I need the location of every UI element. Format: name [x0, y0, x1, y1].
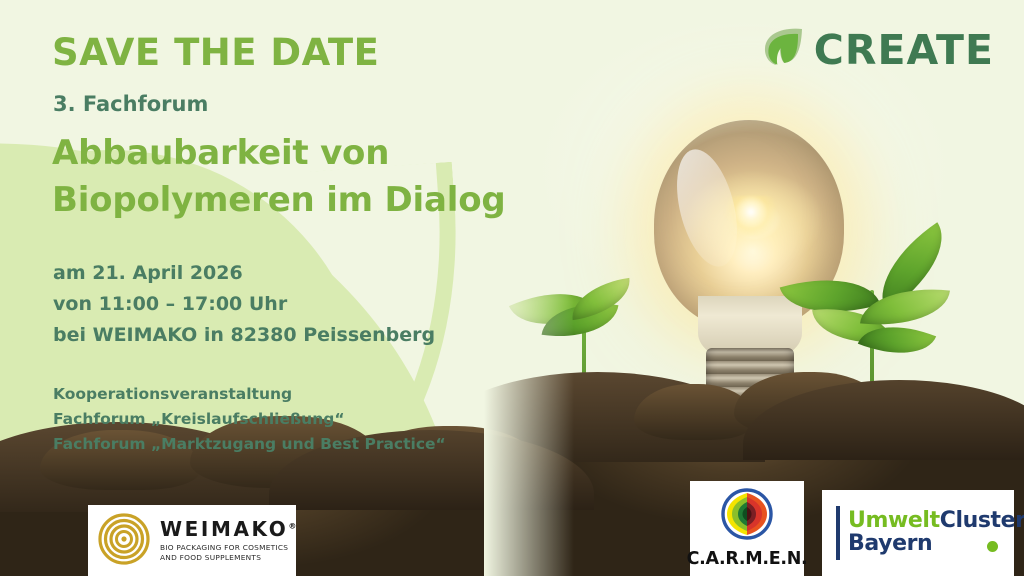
cooperation-forum-1: Fachforum „Kreislaufschließung“ [53, 407, 446, 432]
umweltcluster-line-1: UmweltCluster [848, 510, 1024, 533]
event-title: Abbaubarkeit von Biopolymeren im Dialog [52, 130, 506, 224]
bracket-icon [836, 506, 840, 560]
weimako-name-text: WEIMAKO [160, 517, 288, 541]
concentric-circles-icon [98, 513, 150, 569]
text-content: SAVE THE DATE 3. Fachforum Abbaubarkeit … [0, 0, 560, 576]
event-time: von 11:00 – 17:00 Uhr [53, 289, 435, 320]
event-title-line-1: Abbaubarkeit von [52, 130, 506, 177]
carmen-logo: C.A.R.M.E.N. [690, 481, 804, 576]
save-the-date-eyebrow: SAVE THE DATE [52, 34, 379, 71]
weimako-tagline: BIO PACKAGING FOR COSMETICS AND FOOD SUP… [160, 543, 296, 563]
carmen-flame-emblem-icon [721, 488, 773, 544]
event-title-line-2: Biopolymeren im Dialog [52, 177, 506, 224]
create-wordmark: CREATE [814, 30, 994, 71]
cluster-word: Cluster [940, 508, 1024, 533]
soil-clod-c [884, 392, 1014, 442]
event-details: am 21. April 2026 von 11:00 – 17:00 Uhr … [53, 258, 435, 350]
weimako-logo: WEIMAKO® BIO PACKAGING FOR COSMETICS AND… [88, 505, 296, 576]
cooperation-forum-2: Fachforum „Marktzugang und Best Practice… [53, 432, 446, 457]
weimako-tagline-line-1: BIO PACKAGING FOR COSMETICS [160, 543, 288, 552]
event-date: am 21. April 2026 [53, 258, 435, 289]
cooperation-heading: Kooperationsveranstaltung [53, 382, 446, 407]
poster: CREATE SAVE THE DATE 3. Fachforum Abbaub… [0, 0, 1024, 576]
weimako-wordmark: WEIMAKO® [160, 519, 296, 539]
umweltcluster-logo: UmweltCluster Bayern [822, 490, 1014, 576]
umwelt-word: Umwelt [848, 508, 940, 533]
cooperation-block: Kooperationsveranstaltung Fachforum „Kre… [53, 382, 446, 457]
weimako-registered-mark: ® [288, 521, 296, 530]
weimako-tagline-line-2: AND FOOD SUPPLEMENTS [160, 553, 261, 562]
green-dot-icon [987, 541, 998, 552]
umweltcluster-text-block: UmweltCluster Bayern [848, 510, 1024, 556]
create-logo: CREATE [760, 26, 994, 74]
event-location: bei WEIMAKO in 82380 Peissenberg [53, 320, 435, 351]
soil-clod-b [734, 372, 884, 436]
carmen-wordmark: C.A.R.M.E.N. [687, 549, 808, 569]
weimako-text-block: WEIMAKO® BIO PACKAGING FOR COSMETICS AND… [160, 519, 296, 563]
event-kicker: 3. Fachforum [53, 93, 208, 116]
leaf-icon [760, 26, 806, 74]
